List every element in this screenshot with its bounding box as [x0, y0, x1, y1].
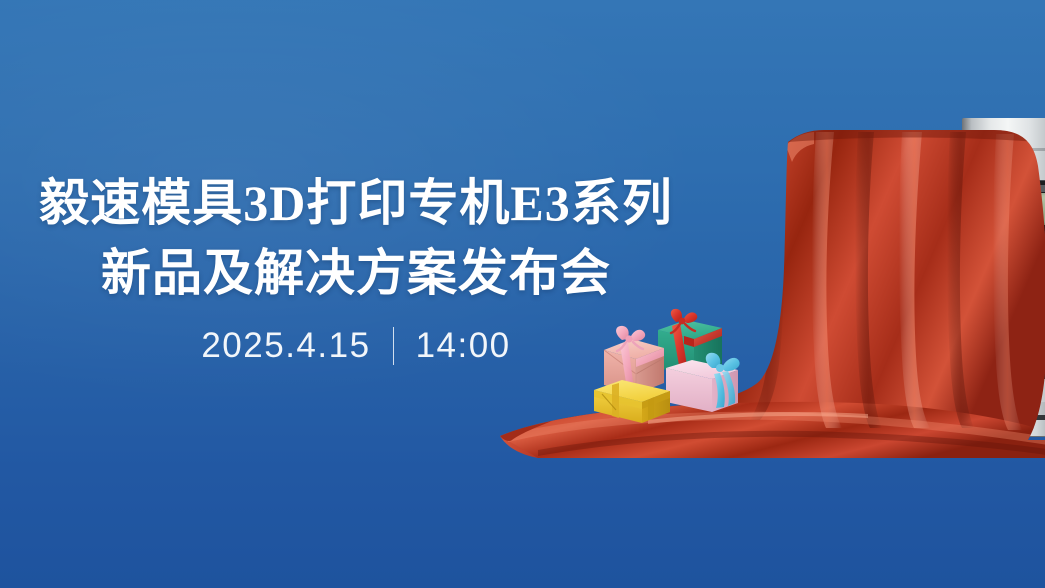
datetime-divider	[393, 327, 394, 365]
event-time: 14:00	[416, 326, 511, 366]
page-title-line-1: 毅速模具3D打印专机E3系列	[0, 168, 712, 238]
event-date: 2025.4.15	[201, 326, 370, 366]
event-banner: 毅速模具3D打印专机E3系列 新品及解决方案发布会 2025.4.15 14:0…	[0, 0, 1045, 588]
banner-text-block: 毅速模具3D打印专机E3系列 新品及解决方案发布会 2025.4.15 14:0…	[0, 168, 712, 366]
event-datetime: 2025.4.15 14:00	[0, 326, 712, 366]
page-title-line-2: 新品及解决方案发布会	[0, 238, 712, 308]
gift-box-yellow	[594, 380, 670, 423]
